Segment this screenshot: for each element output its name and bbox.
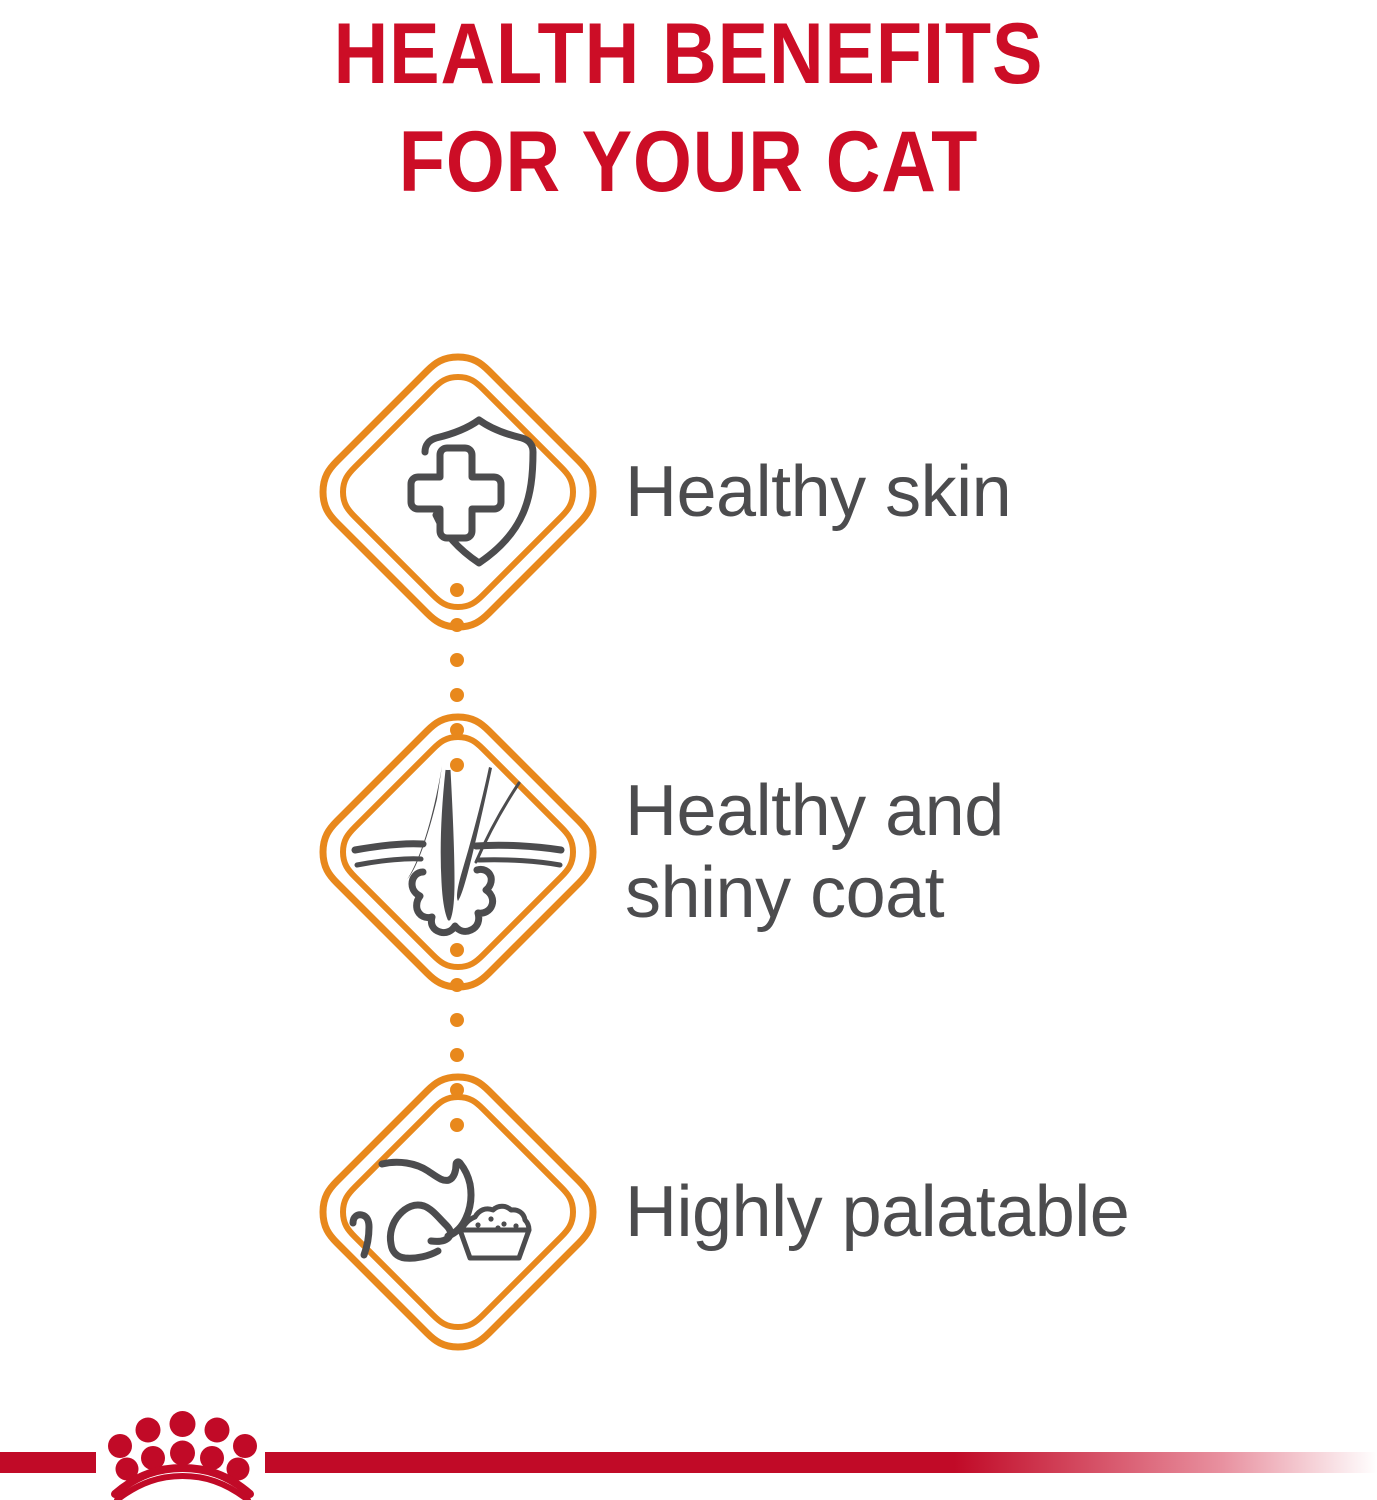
footer-rule-left: [0, 1452, 96, 1473]
title-line-1: HEALTH BENEFITS: [83, 0, 1295, 108]
footer-rule-right: [265, 1452, 1377, 1473]
connector-dots-2: [449, 943, 465, 1153]
benefit-row-highly-palatable: Highly palatable: [0, 1032, 1377, 1392]
connector-dot: [450, 1013, 464, 1027]
benefit-label: Healthy skin: [625, 451, 1011, 533]
page-title: HEALTH BENEFITS FOR YOUR CAT: [0, 0, 1377, 216]
benefits-list: Healthy skin: [0, 312, 1377, 1392]
connector-dot: [450, 1048, 464, 1062]
connector-dots-1: [449, 583, 465, 793]
connector-dot: [450, 653, 464, 667]
connector-dot: [450, 688, 464, 702]
benefit-label: Highly palatable: [625, 1171, 1129, 1253]
title-line-2: FOR YOUR CAT: [83, 108, 1295, 216]
connector-dot: [450, 723, 464, 737]
benefit-label: Healthy and shiny coat: [625, 770, 1004, 934]
connector-dot: [450, 943, 464, 957]
health-benefits-infographic: HEALTH BENEFITS FOR YOUR CAT Healthy ski…: [0, 0, 1377, 1500]
connector-dot: [450, 978, 464, 992]
connector-dot: [450, 583, 464, 597]
royal-canin-crown-logo: [100, 1408, 265, 1500]
benefit-row-healthy-skin: Healthy skin: [0, 312, 1377, 672]
benefit-row-healthy-shiny-coat: Healthy and shiny coat: [0, 672, 1377, 1032]
footer: [0, 1400, 1377, 1500]
connector-dot: [450, 618, 464, 632]
connector-dot: [450, 1118, 464, 1132]
connector-dot: [450, 1083, 464, 1097]
connector-dot: [450, 758, 464, 772]
